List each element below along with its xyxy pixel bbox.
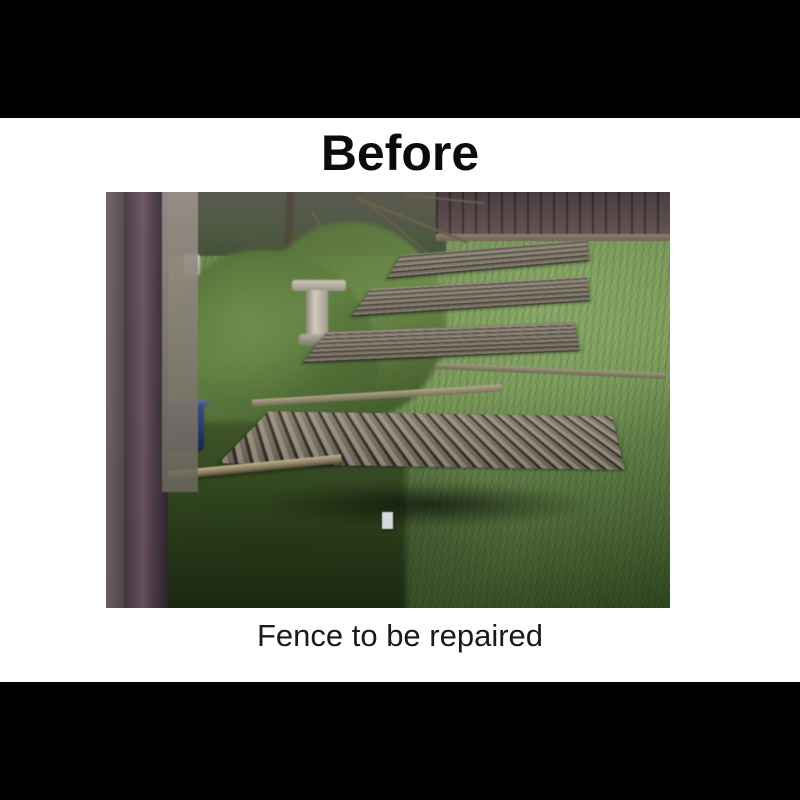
slide-root: Before	[0, 0, 800, 800]
letterbox-band-top	[0, 0, 800, 118]
photo-caption: Fence to be repaired	[0, 616, 800, 656]
background-fence-cap-rail	[436, 234, 670, 241]
panel-label-tag	[382, 512, 393, 529]
background-fence-slats	[436, 192, 670, 236]
fence-photo	[106, 192, 670, 608]
slide-title: Before	[0, 124, 800, 182]
background-wall-left	[162, 192, 198, 492]
letterbox-band-bottom	[0, 682, 800, 800]
stone-ornament-stem	[306, 290, 328, 340]
wooden-fence-post-edge	[106, 192, 124, 608]
panel-cast-shadow	[256, 484, 636, 536]
slide-content-stage: Before	[0, 118, 800, 682]
